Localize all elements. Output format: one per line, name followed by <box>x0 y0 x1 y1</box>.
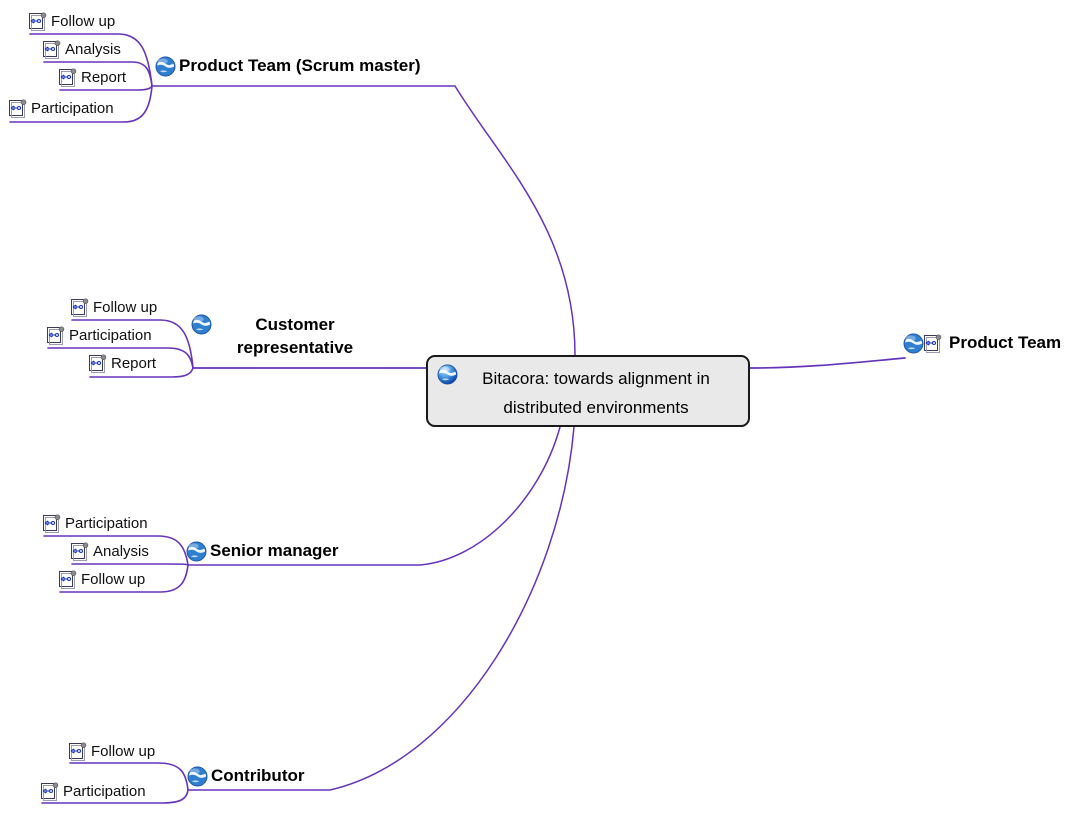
scroll-icon <box>46 326 66 345</box>
root-label: Bitacora: towards alignment in distribut… <box>454 364 738 422</box>
branch-label: Product Team (Scrum master) <box>179 55 421 77</box>
branch-node-product-team-scrum-master[interactable]: Product Team (Scrum master) <box>155 55 421 77</box>
edge-root-to-contributor <box>188 427 574 790</box>
branch-node-contributor[interactable]: Contributor <box>187 765 304 787</box>
leaf-label: Participation <box>31 99 114 118</box>
branch-node-customer-representative[interactable]: Customer representative <box>191 313 375 359</box>
leaf-label: Follow up <box>51 12 115 31</box>
scroll-icon <box>42 514 62 533</box>
scroll-icon <box>8 99 28 118</box>
leaf-label: Analysis <box>93 542 149 561</box>
leaf-node-scrum-analysis[interactable]: Analysis <box>42 40 121 59</box>
branch-node-senior-manager[interactable]: Senior manager <box>186 540 339 562</box>
leaf-label: Follow up <box>91 742 155 761</box>
scroll-icon <box>40 782 60 801</box>
leaf-label: Analysis <box>65 40 121 59</box>
leaf-node-senior-follow-up[interactable]: Follow up <box>58 570 145 589</box>
leaf-node-contrib-follow-up[interactable]: Follow up <box>68 742 155 761</box>
mindmap-canvas: Bitacora: towards alignment in distribut… <box>0 0 1086 814</box>
scroll-icon <box>68 742 88 761</box>
scroll-icon <box>58 570 78 589</box>
root-node[interactable]: Bitacora: towards alignment in distribut… <box>426 355 750 427</box>
scroll-icon <box>88 354 108 373</box>
leaf-label: Participation <box>69 326 152 345</box>
branch-label: Product Team <box>949 332 1061 354</box>
branch-label: Customer representative <box>215 313 375 359</box>
globe-icon <box>191 314 212 335</box>
scroll-icon <box>923 334 943 353</box>
edge-root-to-product-team <box>750 358 905 368</box>
leaf-node-senior-analysis[interactable]: Analysis <box>70 542 149 561</box>
branch-label: Senior manager <box>210 540 339 562</box>
scroll-icon <box>58 68 78 87</box>
scroll-icon <box>70 542 90 561</box>
leaf-label: Report <box>111 354 156 373</box>
leaf-node-scrum-follow-up[interactable]: Follow up <box>28 12 115 31</box>
leaf-node-scrum-participation[interactable]: Participation <box>8 99 114 118</box>
globe-icon <box>155 56 176 77</box>
leaf-node-custrep-participation[interactable]: Participation <box>46 326 152 345</box>
leaf-node-senior-participation[interactable]: Participation <box>42 514 148 533</box>
leaf-label: Follow up <box>93 298 157 317</box>
branch-node-product-team[interactable]: Product Team <box>903 332 1061 354</box>
edge-senior-analysis <box>72 564 188 565</box>
leaf-node-custrep-follow-up[interactable]: Follow up <box>70 298 157 317</box>
globe-icon <box>187 766 208 787</box>
leaf-label: Participation <box>65 514 148 533</box>
globe-icon <box>903 333 924 354</box>
leaf-label: Follow up <box>81 570 145 589</box>
scroll-icon <box>28 12 48 31</box>
leaf-node-custrep-report[interactable]: Report <box>88 354 156 373</box>
leaf-label: Report <box>81 68 126 87</box>
leaf-node-scrum-report[interactable]: Report <box>58 68 126 87</box>
branch-label: Contributor <box>211 765 304 787</box>
globe-icon <box>186 541 207 562</box>
leaf-label: Participation <box>63 782 146 801</box>
scroll-icon <box>42 40 62 59</box>
scroll-icon <box>70 298 90 317</box>
leaf-node-contrib-participation[interactable]: Participation <box>40 782 146 801</box>
